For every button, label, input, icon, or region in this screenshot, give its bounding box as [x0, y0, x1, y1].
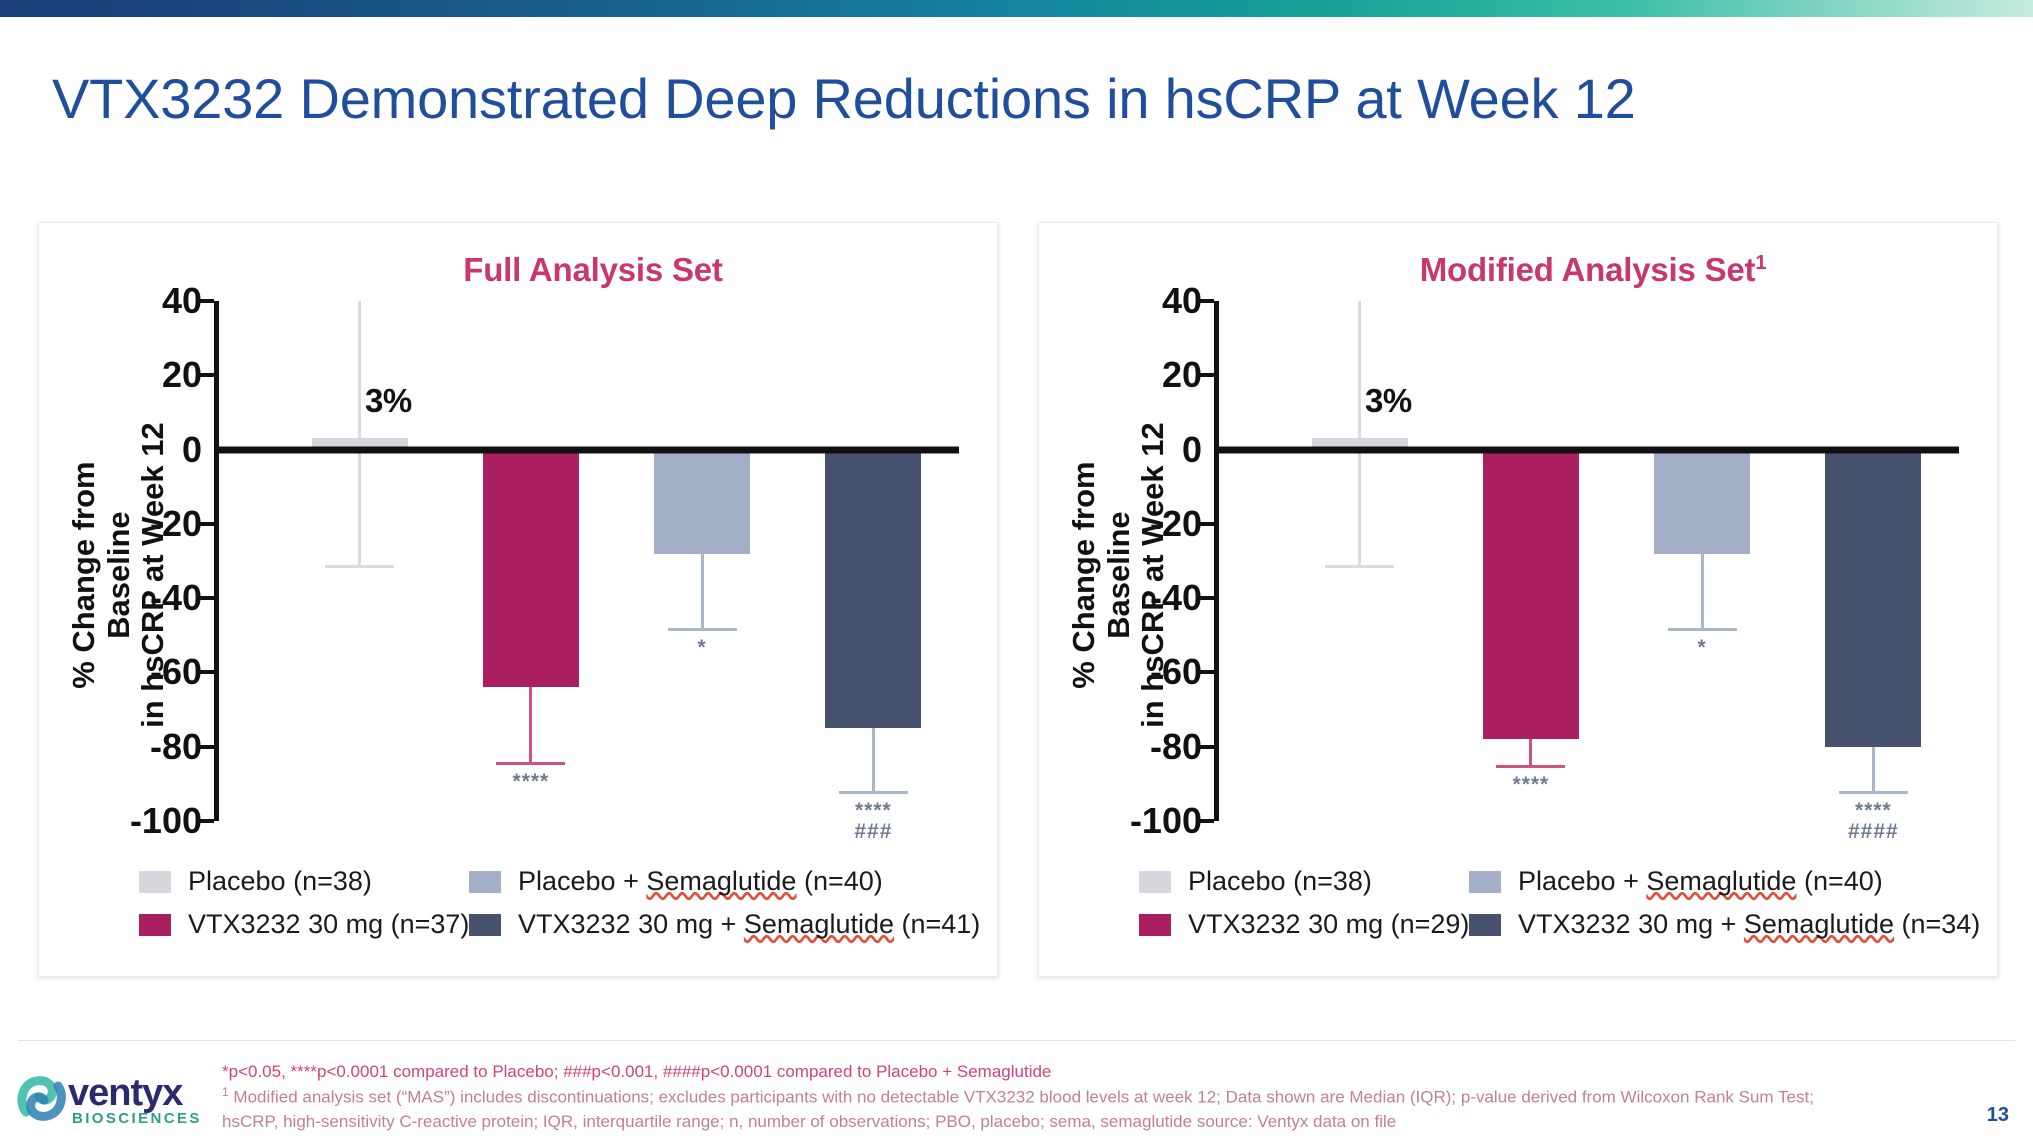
ventyx-subtitle: BIOSCIENCES [72, 1110, 202, 1127]
legend-item[interactable]: VTX3232 30 mg (n=29) [1139, 909, 1469, 940]
y-axis-tick-mark [1197, 745, 1214, 749]
chart-title-text: Modified Analysis Set [1420, 251, 1756, 288]
y-axis-tick-label: -40 [1150, 577, 1202, 619]
error-bar-line [701, 554, 704, 628]
legend-item[interactable]: Placebo + Semaglutide (n=40) [1469, 866, 1959, 897]
legend-color-swatch [1139, 871, 1171, 893]
y-axis-tick-label: 20 [162, 354, 202, 396]
error-bar-line [1358, 301, 1361, 565]
chart-panel-full-analysis-set: Full Analysis Set % Change from Baseline… [38, 222, 998, 977]
y-axis-tick-mark [1197, 373, 1214, 377]
legend-color-swatch [139, 914, 171, 936]
bar-value-label: 3% [340, 382, 436, 420]
legend-label: Placebo (n=38) [188, 866, 372, 897]
legend-label: VTX3232 30 mg + Semaglutide (n=34) [1518, 909, 1980, 940]
legend-label: Placebo + Semaglutide (n=40) [1518, 866, 1883, 897]
chart-title-superscript: 1 [1755, 252, 1766, 274]
legend-item[interactable]: VTX3232 30 mg + Semaglutide (n=34) [1469, 909, 1959, 940]
y-axis-spine [214, 301, 219, 821]
legend-color-swatch [139, 871, 171, 893]
legend-item[interactable]: VTX3232 30 mg (n=37) [139, 909, 469, 940]
page-number: 13 [1987, 1104, 2009, 1127]
y-axis-tick-label: -80 [1150, 726, 1202, 768]
footnote-line-abbreviations: hsCRP, high-sensitivity C-reactive prote… [222, 1110, 1942, 1134]
error-bar-cap [1839, 791, 1908, 794]
bar-value-label: 3% [1340, 382, 1436, 420]
zero-baseline [214, 446, 959, 453]
y-axis-label-line2: in hsCRP at Week 12 [136, 405, 171, 745]
error-bar-cap [1668, 628, 1737, 631]
y-axis-tick-mark [197, 819, 214, 823]
top-gradient-bar [0, 0, 2033, 17]
bar-vtx3232-30-mg[interactable] [483, 450, 579, 688]
legend-item[interactable]: Placebo (n=38) [139, 866, 469, 897]
y-axis-tick-label: -20 [150, 503, 202, 545]
y-axis-tick-mark [1197, 596, 1214, 600]
y-axis-tick-mark [1197, 819, 1214, 823]
y-axis-tick-label: 40 [1162, 280, 1202, 322]
y-axis-tick-mark [1197, 670, 1214, 674]
chart-legend-right: Placebo (n=38)Placebo + Semaglutide (n=4… [1139, 866, 1959, 940]
ventyx-wordmark: ventyx [68, 1072, 182, 1115]
footer-divider [18, 1040, 2015, 1041]
error-bar-line [1529, 739, 1532, 765]
legend-item[interactable]: VTX3232 30 mg + Semaglutide (n=41) [469, 909, 959, 940]
chart-panel-modified-analysis-set: Modified Analysis Set1 % Change from Bas… [1038, 222, 1998, 977]
bar-placebo-semaglutide[interactable] [1654, 450, 1750, 554]
legend-color-swatch [1469, 871, 1501, 893]
bar-vtx3232-30-mg-semaglutide[interactable] [1825, 450, 1921, 747]
legend-color-swatch [1469, 914, 1501, 936]
y-axis-tick-label: -100 [1130, 800, 1202, 842]
chart-legend-left: Placebo (n=38)Placebo + Semaglutide (n=4… [139, 866, 959, 940]
y-axis-tick-label: 40 [162, 280, 202, 322]
ventyx-logo: ventyx BIOSCIENCES [16, 1072, 206, 1134]
y-axis-tick-mark [197, 299, 214, 303]
error-bar-line [358, 301, 361, 565]
chart-title-text: Full Analysis Set [463, 251, 722, 288]
plot-area-right: 40200-20-40-60-80-1003%-78%****-28%*-80%… [1214, 301, 1959, 821]
error-bar-line [1872, 747, 1875, 792]
y-axis-label-line1: % Change from Baseline [67, 405, 136, 745]
y-axis-tick-label: 0 [182, 429, 202, 471]
y-axis-tick-mark [197, 596, 214, 600]
y-axis-label-line1: % Change from Baseline [1067, 405, 1136, 745]
error-bar-cap [839, 791, 908, 794]
y-axis-label-left: % Change from Baseline in hsCRP at Week … [67, 405, 171, 745]
error-bar-cap [668, 628, 737, 631]
significance-marker: **** [1483, 774, 1579, 795]
y-axis-tick-label: -60 [1150, 651, 1202, 693]
y-axis-tick-mark [1197, 522, 1214, 526]
error-bar-cap [1325, 565, 1394, 568]
error-bar-cap [1496, 765, 1565, 768]
y-axis-spine [1214, 301, 1219, 821]
y-axis-tick-label: -80 [150, 726, 202, 768]
bar-placebo-semaglutide[interactable] [654, 450, 750, 554]
legend-label: Placebo + Semaglutide (n=40) [518, 866, 883, 897]
y-axis-tick-label: -40 [150, 577, 202, 619]
significance-marker: * [654, 637, 750, 658]
footnote-line-mas-text: Modified analysis set (“MAS”) includes d… [229, 1088, 1814, 1107]
y-axis-tick-label: -100 [130, 800, 202, 842]
footnote-superscript: 1 [222, 1085, 229, 1099]
legend-color-swatch [1139, 914, 1171, 936]
error-bar-cap [496, 762, 565, 765]
error-bar-line [1701, 554, 1704, 628]
significance-marker: **** ### [825, 800, 921, 842]
y-axis-tick-mark [197, 373, 214, 377]
y-axis-tick-mark [197, 745, 214, 749]
significance-marker: * [1654, 637, 1750, 658]
y-axis-tick-label: -60 [150, 651, 202, 693]
legend-color-swatch [469, 914, 501, 936]
footnote-block: *p<0.05, ****p<0.0001 compared to Placeb… [222, 1060, 1942, 1134]
y-axis-tick-mark [197, 670, 214, 674]
bar-vtx3232-30-mg[interactable] [1483, 450, 1579, 740]
bar-vtx3232-30-mg-semaglutide[interactable] [825, 450, 921, 729]
footnote-line-mas: 1 Modified analysis set (“MAS”) includes… [222, 1084, 1942, 1110]
significance-marker: **** [483, 771, 579, 792]
error-bar-line [529, 687, 532, 761]
y-axis-label-right: % Change from Baseline in hsCRP at Week … [1067, 405, 1171, 745]
legend-item[interactable]: Placebo + Semaglutide (n=40) [469, 866, 959, 897]
slide: VTX3232 Demonstrated Deep Reductions in … [0, 0, 2033, 1145]
legend-label: Placebo (n=38) [1188, 866, 1372, 897]
y-axis-tick-mark [1197, 299, 1214, 303]
legend-color-swatch [469, 871, 501, 893]
error-bar-line [872, 728, 875, 791]
y-axis-tick-label: -20 [1150, 503, 1202, 545]
error-bar-cap [325, 565, 394, 568]
y-axis-tick-label: 20 [1162, 354, 1202, 396]
footnote-line-significance: *p<0.05, ****p<0.0001 compared to Placeb… [222, 1060, 1942, 1084]
plot-area-left: 40200-20-40-60-80-1003%-64%****-28%*-75%… [214, 301, 959, 821]
page-title: VTX3232 Demonstrated Deep Reductions in … [52, 66, 1636, 131]
y-axis-tick-label: 0 [1182, 429, 1202, 471]
significance-marker: **** #### [1825, 800, 1921, 842]
legend-label: VTX3232 30 mg + Semaglutide (n=41) [518, 909, 980, 940]
ventyx-mark-icon [16, 1072, 68, 1124]
zero-baseline [1214, 446, 1959, 453]
legend-label: VTX3232 30 mg (n=37) [188, 909, 469, 940]
legend-item[interactable]: Placebo (n=38) [1139, 866, 1469, 897]
y-axis-label-line2: in hsCRP at Week 12 [1136, 405, 1171, 745]
y-axis-tick-mark [197, 522, 214, 526]
legend-label: VTX3232 30 mg (n=29) [1188, 909, 1469, 940]
